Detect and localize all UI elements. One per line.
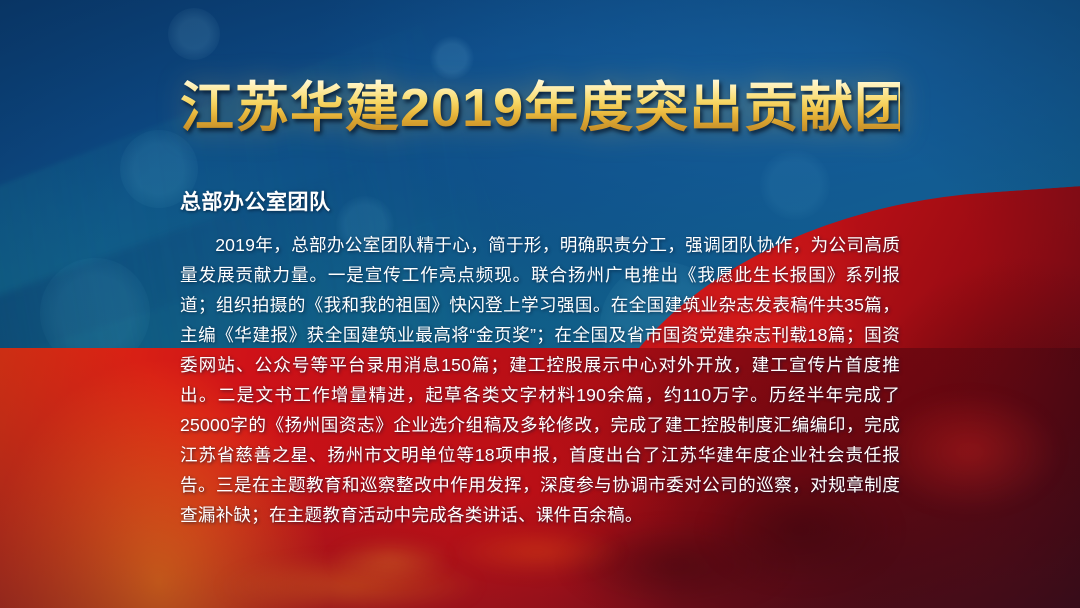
poster-canvas: 江苏华建2019年度突出贡献团队 总部办公室团队 2019年，总部办公室团队精于…: [0, 0, 1080, 608]
ribbon-crest-highlight: [330, 540, 450, 580]
poster-content: 江苏华建2019年度突出贡献团队 总部办公室团队 2019年，总部办公室团队精于…: [0, 0, 1080, 530]
ribbon-fold-highlight: [452, 528, 622, 576]
poster-title: 江苏华建2019年度突出贡献团队: [180, 78, 900, 138]
team-description-paragraph: 2019年，总部办公室团队精于心，简于形，明确职责分工，强调团队协作，为公司高质…: [180, 230, 900, 530]
team-name-heading: 总部办公室团队: [180, 186, 900, 216]
ribbon-fold-highlight: [220, 556, 480, 608]
ribbon-fold-shadow: [560, 520, 790, 608]
